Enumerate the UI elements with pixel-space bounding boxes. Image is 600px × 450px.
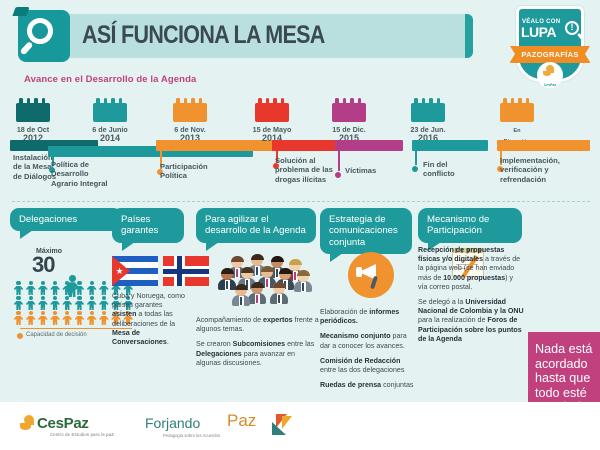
timeline-label: Implementación, verificación y refrendac… (500, 156, 592, 184)
panel-agilizar-title: Para agilizar el desarrollo de la Agenda (196, 208, 316, 243)
panel-paises-body: Cuba y Noruega, como países garantes asi… (112, 292, 188, 347)
cuba-flag: ★ (112, 256, 158, 286)
person-icon (62, 296, 73, 310)
section-divider (12, 201, 590, 202)
expert-avatar-icon (294, 270, 312, 292)
flags-row: ★ (112, 256, 209, 286)
calendar-icon (255, 98, 289, 124)
person-icon (74, 281, 85, 295)
page-subtitle: Avance en el Desarrollo de la Agenda (24, 74, 196, 85)
badge-magnifier-icon (565, 21, 579, 35)
timeline-label: Fin del conflicto (423, 160, 473, 179)
timeline-dot (412, 166, 418, 172)
maximo-number: 30 (32, 254, 54, 276)
legend-dot (17, 333, 23, 339)
body-text: Cuba y Noruega, como países garantes (112, 292, 185, 309)
badge-ribbon-label: PAZOGRAFÍAS (510, 46, 590, 63)
person-icon (25, 311, 36, 325)
person-icon (13, 296, 24, 310)
leaf-icon (20, 415, 36, 435)
body-text: Elaboración de (320, 308, 369, 316)
norway-flag (163, 256, 209, 286)
panel-estrategia: Estrategia de comunicaciones conjunta El… (320, 208, 416, 254)
header-bar-cap (465, 14, 473, 58)
expert-avatar-icon (270, 282, 288, 304)
timeline-date: 6 de Junio2014 (89, 125, 131, 143)
person-icon (98, 281, 109, 295)
infographic-page: ! ASÍ FUNCIONA LA MESA Avance en el Desa… (0, 0, 600, 450)
emphasis-text: Ruedas de prensa (320, 381, 381, 389)
legend-label: Capacidad de decisión (26, 332, 87, 338)
forjando-logo-word2: Paz (227, 411, 256, 431)
veálo-con-lupa-badge: VÉALO CON LUPA PAZOGRAFÍAS CesPaz (508, 6, 592, 98)
timeline-item-6[interactable]: 23 de Jun.2016 (407, 98, 449, 143)
person-icon (37, 311, 48, 325)
person-icon (62, 311, 73, 325)
body-text: para la realización de (418, 316, 487, 324)
person-icon (86, 311, 97, 325)
timeline-bar (412, 140, 488, 151)
timeline-item-4[interactable]: 15 de Mayo2014 (251, 98, 293, 143)
timeline: 18 de Oct2012Instalación de la Mesa de D… (0, 98, 600, 202)
paragraph-4: Ruedas de prensa conjuntas (320, 381, 414, 390)
timeline-label: Política de Desarrollo Agrario Integral (51, 160, 111, 188)
body-text: . (167, 338, 169, 346)
person-icon (98, 311, 109, 325)
emphasis-text: Mecanismo conjunto (320, 332, 391, 340)
timeline-bar (335, 140, 403, 151)
panel-estrategia-body: Elaboración de informes periódicos.Mecan… (320, 308, 414, 396)
expert-avatar-icon (248, 282, 266, 304)
person-icon (74, 296, 85, 310)
body-text: Se delegó a la (418, 298, 465, 306)
timeline-item-5[interactable]: 15 de Dic.2015 (328, 98, 370, 143)
calendar-icon (500, 98, 534, 124)
emphasis-text: Subcomisiones (233, 340, 285, 348)
timeline-item-1[interactable]: 18 de Oct2012 (12, 98, 54, 143)
paragraph-1: Recepción de propuestas físicas y/o digi… (418, 246, 524, 292)
panel-estrategia-title: Estrategia de comunicaciones conjunta (320, 208, 412, 254)
bird-icon (270, 414, 296, 438)
timeline-connector (415, 151, 417, 165)
calendar-icon (16, 98, 50, 124)
panel-paises-title: Países garantes (112, 208, 184, 243)
emphasis-text: 10.000 propuestas (443, 274, 505, 282)
panel-paises-garantes: Países garantes ★ Cuba y Noruega, como p… (112, 208, 190, 243)
cespaz-logo-name: CesPaz (37, 415, 89, 432)
expert-avatar-icon (232, 284, 250, 306)
person-icon (50, 281, 61, 295)
panel-agilizar-body: Acompañamiento de expertos frente a algu… (196, 316, 320, 374)
calendar-icon (332, 98, 366, 124)
footer: CesPaz Centro de Estudios para la paZ Fo… (0, 402, 600, 450)
person-icon (74, 311, 85, 325)
person-icon (25, 281, 36, 295)
people-group-icon (218, 254, 323, 314)
timeline-connector (338, 151, 340, 171)
paragraph-1: Acompañamiento de expertos frente a algu… (196, 316, 320, 334)
panel-mecanismo-body: Recepción de propuestas físicas y/o digi… (418, 246, 524, 350)
megaphone-icon (348, 252, 394, 298)
person-icon (13, 311, 24, 325)
timeline-item-3[interactable]: 6 de Nov.2013 (169, 98, 211, 143)
emphasis-text: Mesa de Conversaciones (112, 329, 167, 346)
panel-agilizar: Para agilizar el desarrollo de la Agenda… (196, 208, 320, 243)
badge-cespaz-label: CesPaz (537, 83, 563, 87)
forjando-paz-logo[interactable]: Forjando Paz Pedagogía sobre los Acuerdo… (145, 410, 295, 442)
calendar-icon (411, 98, 445, 124)
person-icon (37, 296, 48, 310)
cespaz-logo[interactable]: CesPaz Centro de Estudios para la paZ (20, 410, 130, 442)
paragraph-1: Elaboración de informes periódicos. (320, 308, 414, 326)
paragraph-2: Mecanismo conjunto para dar a conocer lo… (320, 332, 414, 350)
timeline-item-2[interactable]: 6 de Junio2014 (89, 98, 131, 143)
emphasis-text: asisten (112, 310, 136, 318)
person-icon (37, 281, 48, 295)
forjando-logo-tagline: Pedagogía sobre los Acuerdos (163, 433, 220, 438)
body-text: entre las dos delegaciones (320, 366, 404, 374)
timeline-bar (497, 140, 590, 151)
paragraph-2: Se delegó a la Universidad Nacional de C… (418, 298, 524, 344)
person-icon (50, 311, 61, 325)
person-icon (62, 281, 73, 295)
timeline-label: Solución al problema de las drogas ilíci… (275, 156, 347, 184)
emphasis-text: expertos (263, 316, 293, 324)
timeline-dot (335, 172, 341, 178)
body-text: Se crearon (196, 340, 233, 348)
panel-mecanismo: Mecanismo de Participación Recepción de … (418, 208, 526, 243)
timeline-label: Participación Política (160, 162, 230, 181)
timeline-label: Víctimas (345, 166, 397, 175)
emphasis-text: Delegaciones (196, 350, 242, 358)
panel-mecanismo-title: Mecanismo de Participación (418, 208, 522, 243)
cespaz-logo-tagline: Centro de Estudios para la paZ (50, 432, 114, 437)
panel-delegaciones-title: Delegaciones (10, 208, 122, 231)
body-text: conjuntas (381, 381, 413, 389)
panels-section: Delegaciones Máximo 30 Capacidad de deci… (0, 208, 600, 403)
paragraph-2: Se crearon Subcomisiones entre las Deleg… (196, 340, 320, 368)
person-icon (86, 281, 97, 295)
person-icon (13, 281, 24, 295)
magnifier-exclamation-icon: ! (18, 10, 70, 62)
badge-ribbon: PAZOGRAFÍAS (510, 46, 590, 63)
person-icon (50, 296, 61, 310)
person-icon (98, 296, 109, 310)
body-text: entre las (285, 340, 314, 348)
person-icon (86, 296, 97, 310)
calendar-icon (93, 98, 127, 124)
emphasis-text: Comisión de Redacción (320, 357, 400, 365)
paragraph-3: Comisión de Redacción entre las dos dele… (320, 357, 414, 375)
page-title: ASÍ FUNCIONA LA MESA (82, 21, 325, 50)
badge-line2: LUPA (521, 25, 556, 39)
badge-cespaz-logo: CesPaz (537, 62, 563, 88)
person-icon (25, 296, 36, 310)
leaf-icon (543, 65, 556, 80)
calendar-icon (173, 98, 207, 124)
header: ! ASÍ FUNCIONA LA MESA Avance en el Desa… (0, 0, 600, 96)
forjando-logo-word1: Forjando (145, 415, 200, 431)
body-text: Acompañamiento de (196, 316, 263, 324)
